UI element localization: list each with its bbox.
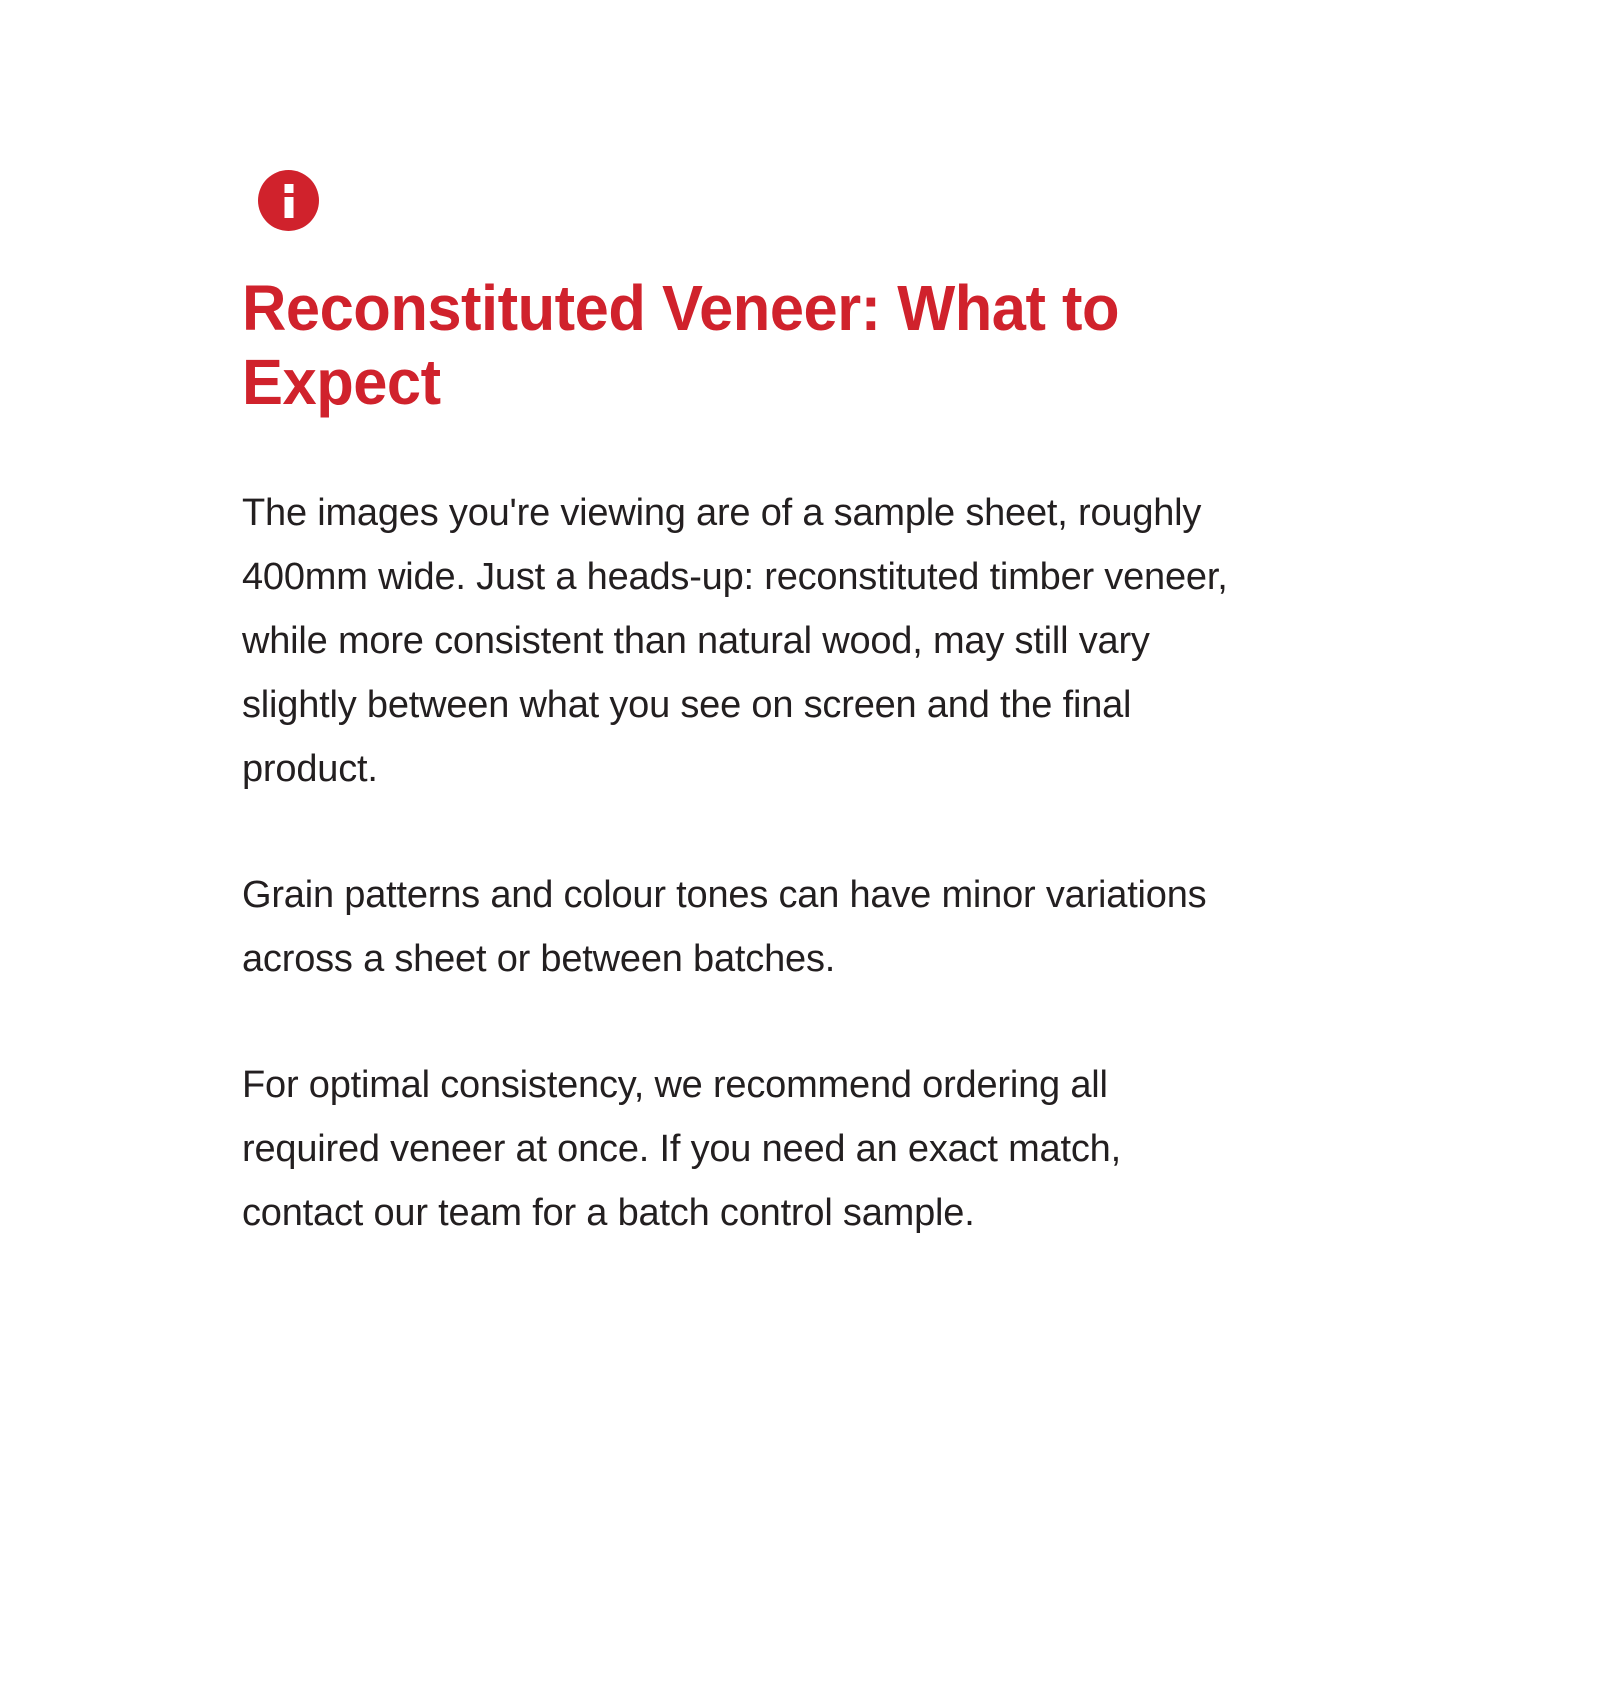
notice-body: The images you're viewing are of a sampl…	[242, 481, 1242, 1245]
notice-page: Reconstituted Veneer: What to Expect The…	[0, 0, 1620, 1686]
info-icon-dot	[284, 184, 293, 193]
notice-paragraph-2: Grain patterns and colour tones can have…	[242, 863, 1242, 991]
notice-content-block: Reconstituted Veneer: What to Expect The…	[242, 170, 1242, 1245]
info-circle-icon	[258, 170, 319, 231]
notice-paragraph-3: For optimal consistency, we recommend or…	[242, 1053, 1242, 1245]
page-title: Reconstituted Veneer: What to Expect	[242, 271, 1202, 419]
info-icon-stem	[284, 197, 293, 218]
notice-paragraph-1: The images you're viewing are of a sampl…	[242, 481, 1242, 801]
